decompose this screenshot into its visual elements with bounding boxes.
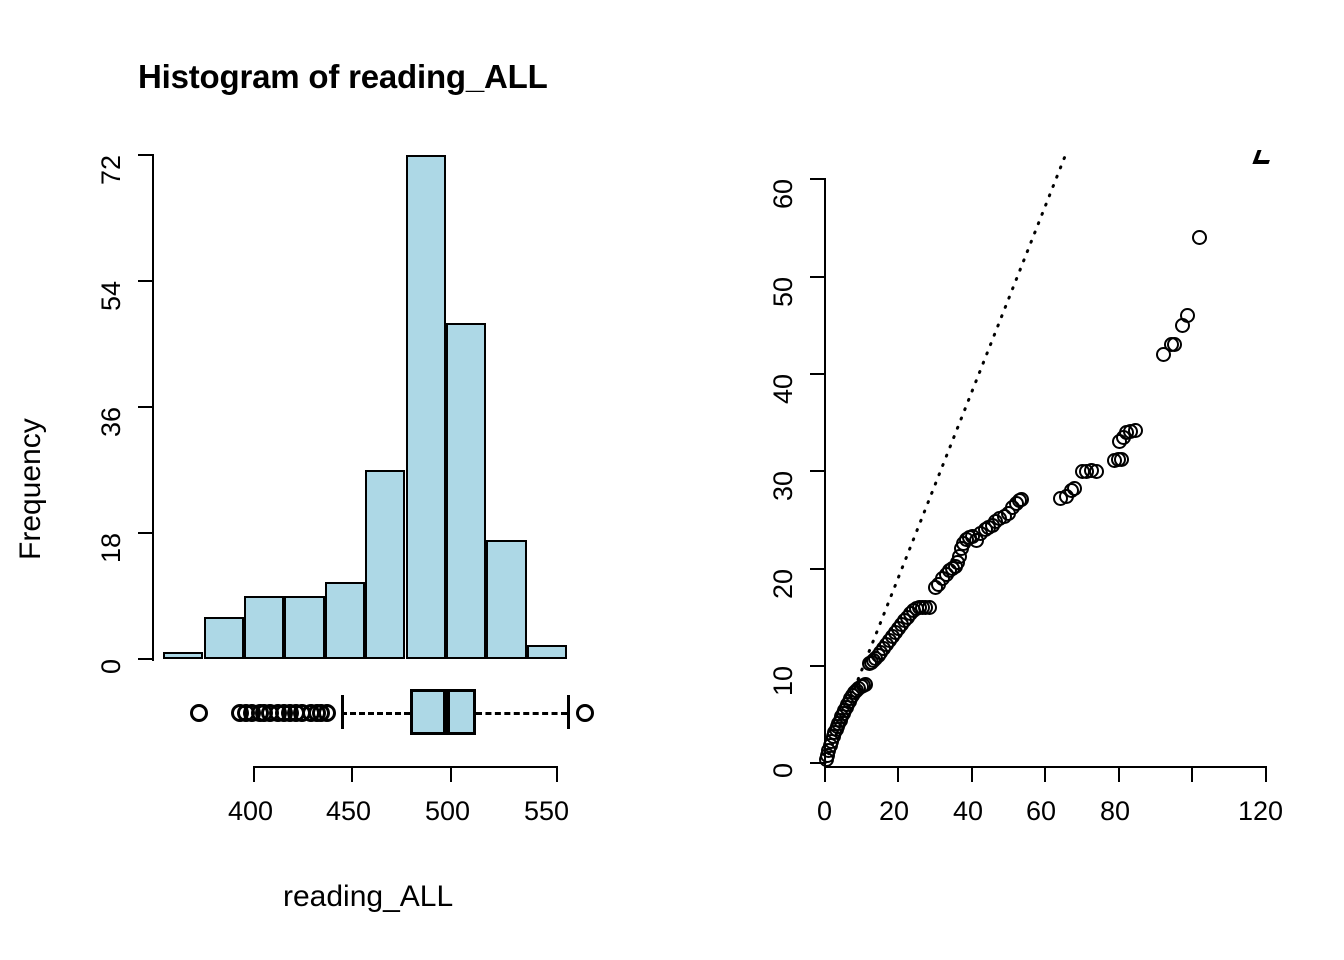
scatter-point (1167, 337, 1182, 352)
scatter-point (858, 677, 873, 692)
boxplot-outlier (576, 704, 594, 722)
x-axis-line (253, 766, 558, 768)
x-tick-label-500: 500 (425, 798, 470, 825)
qq-scatter-points (672, 0, 1344, 960)
x-tick-label-450: 450 (326, 798, 371, 825)
scatter-point (1067, 481, 1082, 496)
x-tick-500 (450, 766, 452, 782)
scatter-point (1128, 423, 1143, 438)
x-tick-450 (351, 766, 353, 782)
x-axis-label: reading_ALL (283, 880, 453, 914)
figure-canvas: Histogram of reading_ALL Frequency 0 18 … (0, 0, 1344, 960)
scatter-point (1089, 464, 1104, 479)
scatter-point (1014, 492, 1029, 507)
x-tick-label-550: 550 (524, 798, 569, 825)
scatter-point (922, 600, 937, 615)
boxplot-whisker-cap (341, 695, 344, 729)
x-tick-label-400: 400 (228, 798, 273, 825)
boxplot-whisker-cap (567, 695, 570, 729)
scatter-point (1192, 230, 1207, 245)
scatter-point (1114, 452, 1129, 467)
boxplot-whisker (476, 712, 567, 715)
boxplot-whisker (341, 712, 410, 715)
boxplot-outlier (190, 704, 208, 722)
x-tick-550 (556, 766, 558, 782)
histogram-panel: Histogram of reading_ALL Frequency 0 18 … (0, 0, 672, 960)
boxplot-median-line (443, 689, 450, 735)
x-tick-400 (253, 766, 255, 782)
boxplot-outlier (318, 704, 336, 722)
scatter-point (1180, 308, 1195, 323)
qq-plot-panel: 0 10 20 30 40 50 60 0 20 40 60 80 120 (672, 0, 1344, 960)
